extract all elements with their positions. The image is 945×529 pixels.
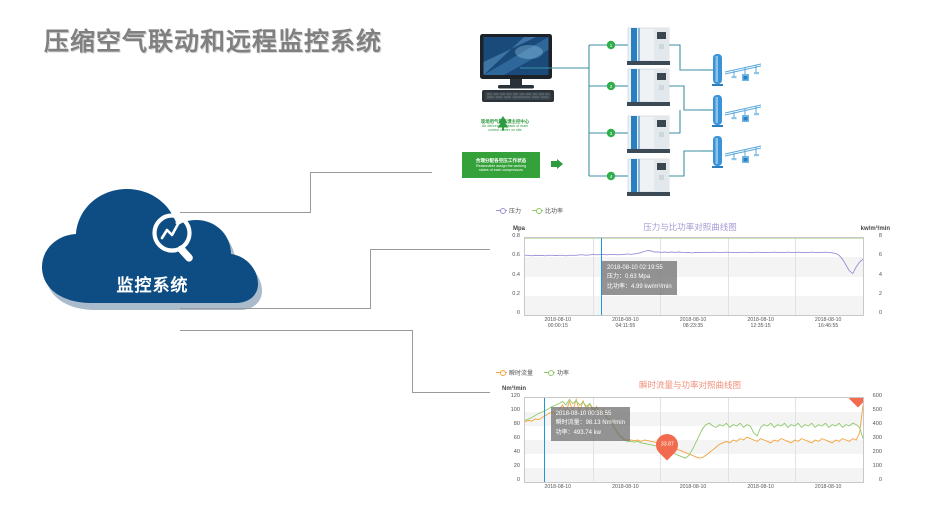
marker-value: 33.87 bbox=[660, 442, 673, 448]
chart0-xtick: 2018-08-1004:11:55 bbox=[595, 317, 655, 329]
chart1-ytick: 40 bbox=[490, 449, 520, 455]
chart1-legend-item-0[interactable]: 瞬时流量 bbox=[496, 368, 533, 377]
xtick-date: 2018-08-10 bbox=[528, 484, 588, 490]
chart0-y2-unit: kw/m³/min bbox=[861, 226, 890, 232]
tooltip-line-1: 2018-08-10 02:19:55 bbox=[607, 264, 672, 273]
monitoring-cloud[interactable]: 监控系统 bbox=[30, 185, 290, 335]
tooltip-line-1: 2018-08-10 00:38:55 bbox=[556, 410, 625, 419]
chart1-ytick: 60 bbox=[490, 435, 520, 441]
air-tank-and-distribution bbox=[712, 54, 761, 168]
chart0-y2tick: 6 bbox=[879, 252, 882, 258]
chart0-ytick: 0.2 bbox=[490, 291, 520, 297]
legend-label: 比功率 bbox=[545, 206, 563, 215]
tooltip-line-3: 功率：493.74 kw bbox=[556, 429, 625, 438]
chart1-ytick: 0 bbox=[490, 477, 520, 483]
chart1-y2tick: 600 bbox=[873, 393, 882, 399]
chart1-title: 瞬时流量与功率对照曲线图 bbox=[490, 379, 890, 391]
xtick-time: 08:23:35 bbox=[663, 323, 723, 329]
chart1-y2tick: 400 bbox=[873, 421, 882, 427]
cloud-label: 监控系统 bbox=[30, 271, 275, 296]
xtick-time: 00:00:15 bbox=[528, 323, 588, 329]
chart1-xtick: 2018-08-10 bbox=[663, 484, 723, 490]
chart1-ytick: 80 bbox=[490, 421, 520, 427]
legend-label: 瞬时流量 bbox=[509, 368, 533, 377]
connector-line-2-a bbox=[180, 308, 370, 309]
connector-line-3-c bbox=[412, 330, 413, 392]
chart1-y2tick: 300 bbox=[873, 435, 882, 441]
chart0-legend[interactable]: 压力比功率 bbox=[496, 206, 563, 215]
xtick-date: 2018-08-10 bbox=[731, 484, 791, 490]
chart1-ytick: 120 bbox=[490, 393, 520, 399]
chart0-xtick: 2018-08-1012:35:15 bbox=[731, 317, 791, 329]
chart0-ytick: 0 bbox=[490, 310, 520, 316]
chart0-plot[interactable] bbox=[524, 237, 864, 316]
chart0-y2tick: 0 bbox=[879, 310, 882, 316]
chart1-y2tick: 500 bbox=[873, 407, 882, 413]
connector-line-3-a bbox=[180, 330, 412, 331]
chart0-series bbox=[525, 238, 863, 315]
chart1-y2tick: 200 bbox=[873, 449, 882, 455]
chart1-xtick: 2018-08-10 bbox=[595, 484, 655, 490]
flow-power-chart-panel[interactable]: 瞬时流量功率 瞬时流量与功率对照曲线图 Nm³/min 33.87110.55 … bbox=[490, 366, 890, 516]
chart0-ytick: 0.8 bbox=[490, 233, 520, 239]
system-diagram: 现场用气量反馈主控中心 Air delivery feedback of mai… bbox=[432, 18, 932, 203]
piping-network: 1 2 3 4 bbox=[432, 18, 932, 203]
chart1-legend-item-1[interactable]: 功率 bbox=[544, 368, 569, 377]
legend-marker-icon bbox=[544, 370, 555, 376]
chart1-xtick: 2018-08-10 bbox=[731, 484, 791, 490]
tooltip-line-3: 比功率：4.99 kw/m³/min bbox=[607, 283, 672, 292]
node-badges: 1 2 3 4 bbox=[607, 41, 615, 180]
chart1-xtick: 2018-08-10 bbox=[798, 484, 858, 490]
pressure-power-chart-panel[interactable]: 压力比功率 压力与比功率对照曲线图 Mpa kw/m³/min 0.80.60.… bbox=[490, 204, 890, 334]
chart0-xtick: 2018-08-1000:00:15 bbox=[528, 317, 588, 329]
chart1-cursor-line[interactable] bbox=[544, 398, 545, 482]
chart0-y2tick: 2 bbox=[879, 291, 882, 297]
chart0-tooltip: 2018-08-10 02:19:55压力：0.63 Mpa比功率：4.99 k… bbox=[602, 261, 677, 295]
chart0-xtick: 2018-08-1008:23:35 bbox=[663, 317, 723, 329]
xtick-date: 2018-08-10 bbox=[663, 484, 723, 490]
xtick-time: 16:46:55 bbox=[798, 323, 858, 329]
chart1-y2tick: 100 bbox=[873, 463, 882, 469]
chart1-y-unit: Nm³/min bbox=[502, 386, 526, 392]
chart1-ytick: 20 bbox=[490, 463, 520, 469]
connector-line-2-c bbox=[370, 249, 492, 250]
compressor-unit bbox=[627, 28, 670, 196]
chart0-title: 压力与比功率对照曲线图 bbox=[490, 221, 890, 233]
chart0-y-unit: Mpa bbox=[513, 226, 525, 232]
xtick-time: 12:35:15 bbox=[731, 323, 791, 329]
connector-line-3-d bbox=[412, 392, 492, 393]
xtick-date: 2018-08-10 bbox=[798, 484, 858, 490]
connector-line-2-b bbox=[370, 249, 371, 309]
magnifier-chart-icon bbox=[148, 210, 206, 268]
chart0-ytick: 0.6 bbox=[490, 252, 520, 258]
tooltip-line-2: 压力：0.63 Mpa bbox=[607, 273, 672, 282]
chart0-xtick: 2018-08-1016:46:55 bbox=[798, 317, 858, 329]
chart0-legend-item-1[interactable]: 比功率 bbox=[532, 206, 563, 215]
legend-marker-icon bbox=[496, 208, 507, 214]
page-title: 压缩空气联动和远程监控系统 bbox=[44, 22, 382, 58]
legend-label: 功率 bbox=[557, 368, 569, 377]
connector-line-1-c bbox=[310, 172, 432, 173]
chart1-ytick: 100 bbox=[490, 407, 520, 413]
chart1-y2tick: 0 bbox=[879, 477, 882, 483]
slide-canvas: 压缩空气联动和远程监控系统 监控系统 bbox=[0, 0, 945, 529]
connector-line-1-a bbox=[180, 212, 310, 213]
chart0-legend-item-0[interactable]: 压力 bbox=[496, 206, 521, 215]
xtick-date: 2018-08-10 bbox=[595, 484, 655, 490]
connector-line-1-b bbox=[310, 172, 311, 213]
tooltip-line-2: 瞬时流量：98.13 Nm³/min bbox=[556, 419, 625, 428]
xtick-time: 04:11:55 bbox=[595, 323, 655, 329]
chart1-tooltip: 2018-08-10 00:38:55瞬时流量：98.13 Nm³/min功率：… bbox=[551, 407, 630, 441]
chart1-legend[interactable]: 瞬时流量功率 bbox=[496, 368, 569, 377]
chart1-xtick: 2018-08-10 bbox=[528, 484, 588, 490]
chart0-y2tick: 8 bbox=[879, 233, 882, 239]
legend-marker-icon bbox=[532, 208, 543, 214]
legend-label: 压力 bbox=[509, 206, 521, 215]
chart0-y2tick: 4 bbox=[879, 272, 882, 278]
chart0-ytick: 0.4 bbox=[490, 272, 520, 278]
legend-marker-icon bbox=[496, 370, 507, 376]
